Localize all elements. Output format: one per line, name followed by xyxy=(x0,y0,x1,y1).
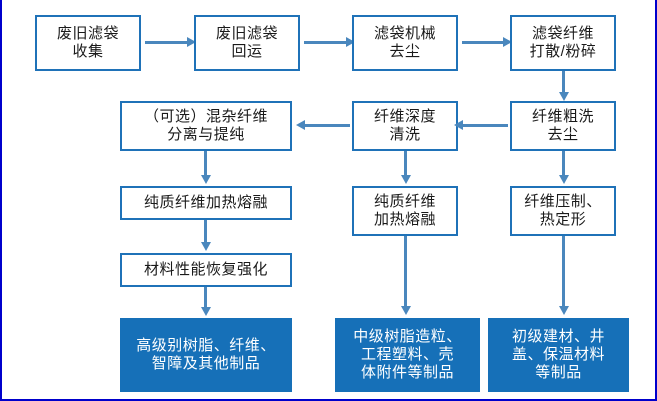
node-label: 滤袋机械 去尘 xyxy=(370,25,440,60)
flowchart-canvas: 废旧滤袋 收集 废旧滤袋 回运 滤袋机械 去尘 滤袋纤维 打散/粉碎 （可选）混… xyxy=(0,0,657,401)
connector-n7-n10 xyxy=(562,151,565,177)
arrowhead-left-icon xyxy=(454,120,463,130)
arrowhead-down-icon xyxy=(559,306,569,315)
connector-n6-n9 xyxy=(404,151,407,177)
connector-n11-n12 xyxy=(204,287,207,309)
node-label: 纯质纤维加热熔融 xyxy=(140,194,272,212)
node-label: 中级树脂造粒、 工程塑料、壳 体附件等制品 xyxy=(349,328,466,381)
node-n1[interactable]: 废旧滤袋 收集 xyxy=(35,15,141,71)
node-label: 纯质纤维 加热熔融 xyxy=(370,193,440,228)
node-n12[interactable]: 高级别树脂、纤维、 智障及其他制品 xyxy=(120,318,292,392)
node-label: 废旧滤袋 收集 xyxy=(53,25,123,60)
node-n10[interactable]: 纤维压制、 热定形 xyxy=(510,186,616,236)
node-n6[interactable]: 纤维深度 清洗 xyxy=(352,101,458,151)
node-n8[interactable]: 纯质纤维加热熔融 xyxy=(120,186,292,220)
node-n13[interactable]: 中级树脂造粒、 工程塑料、壳 体附件等制品 xyxy=(335,318,480,392)
node-label: 滤袋纤维 打散/粉碎 xyxy=(526,25,601,60)
node-n4[interactable]: 滤袋纤维 打散/粉碎 xyxy=(510,15,616,71)
arrowhead-down-icon xyxy=(401,175,411,184)
node-n14[interactable]: 初级建材、井 盖、保温材料 等制品 xyxy=(488,318,629,392)
node-n9[interactable]: 纯质纤维 加热熔融 xyxy=(352,186,458,236)
node-label: 纤维深度 清洗 xyxy=(370,108,440,143)
connector-n10-n14 xyxy=(562,236,565,308)
arrowhead-down-icon xyxy=(201,175,211,184)
connector-n8-n11 xyxy=(204,220,207,244)
node-label: 废旧滤袋 回运 xyxy=(212,25,282,60)
connector-n3-n4 xyxy=(462,41,503,44)
node-n2[interactable]: 废旧滤袋 回运 xyxy=(194,15,300,71)
connector-n9-n13 xyxy=(404,236,407,308)
node-label: 初级建材、井 盖、保温材料 等制品 xyxy=(508,328,609,381)
arrowhead-down-icon xyxy=(401,306,411,315)
node-n11[interactable]: 材料性能恢复强化 xyxy=(120,253,292,287)
connector-n4-n7 xyxy=(562,71,565,94)
connector-n5-n8 xyxy=(204,151,207,177)
arrowhead-down-icon xyxy=(559,92,569,101)
connector-n6-n5 xyxy=(305,124,350,127)
node-n3[interactable]: 滤袋机械 去尘 xyxy=(352,15,458,71)
node-label: 纤维粗洗 去尘 xyxy=(528,108,598,143)
connector-n7-n6 xyxy=(463,124,508,127)
node-label: 纤维压制、 热定形 xyxy=(520,193,606,228)
arrowhead-down-icon xyxy=(559,175,569,184)
node-label: 材料性能恢复强化 xyxy=(140,261,272,279)
arrowhead-left-icon xyxy=(296,120,305,130)
node-n7[interactable]: 纤维粗洗 去尘 xyxy=(510,101,616,151)
node-label: （可选）混杂纤维 分离与提纯 xyxy=(140,108,272,143)
node-label: 高级别树脂、纤维、 智障及其他制品 xyxy=(132,337,280,372)
arrowhead-down-icon xyxy=(201,242,211,251)
connector-n2-n3 xyxy=(304,41,346,44)
node-n5[interactable]: （可选）混杂纤维 分离与提纯 xyxy=(120,101,292,151)
arrowhead-down-icon xyxy=(201,307,211,316)
connector-n1-n2 xyxy=(145,41,187,44)
